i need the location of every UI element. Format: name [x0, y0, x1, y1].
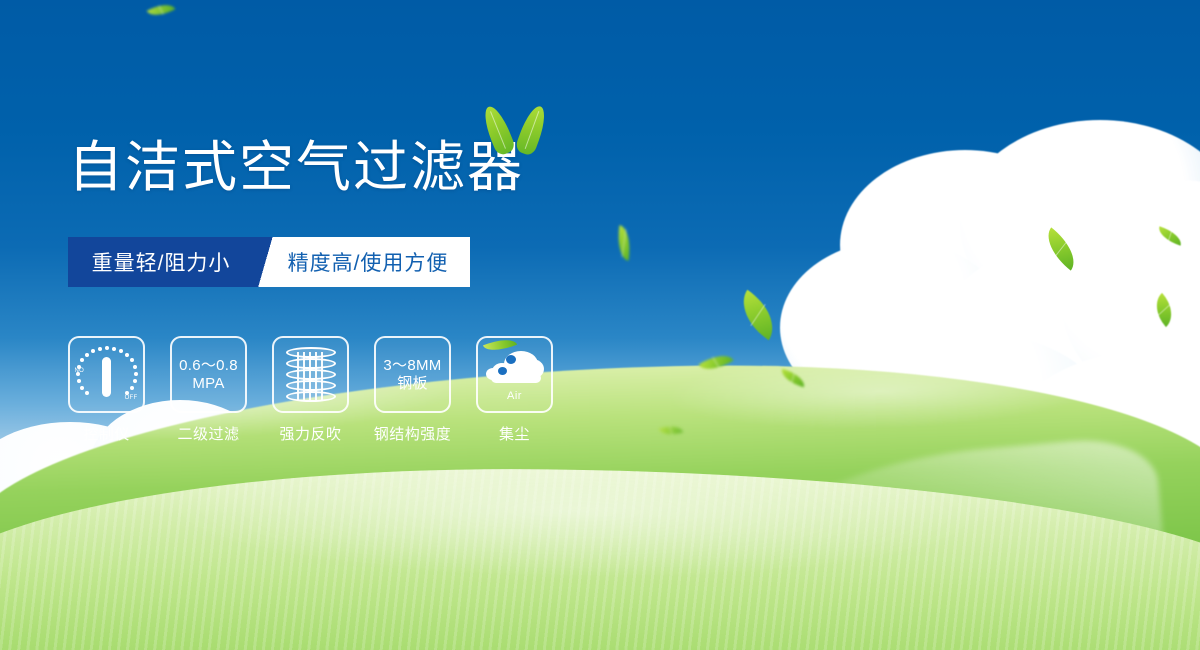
floating-leaf-icon [1147, 293, 1181, 327]
air-label: Air [507, 390, 522, 402]
steel-material: 钢板 [383, 375, 441, 392]
feature-list: NO OFF 控制仪 0.6～0.8 MPA 二级过滤 [68, 336, 553, 444]
feature-label: 控制仪 [83, 423, 130, 444]
feature-label: 钢结构强度 [374, 423, 452, 444]
feature-item-controller[interactable]: NO OFF 控制仪 [68, 336, 145, 444]
sprout-leaves-icon [474, 105, 564, 161]
page-title: 自洁式空气过滤器 [68, 140, 524, 195]
floating-leaf-icon [147, 0, 176, 21]
subtitle-bar: 重量轻/阻力小 精度高/使用方便 [68, 237, 470, 287]
feature-item-two-stage-filtration[interactable]: 0.6～0.8 MPA 二级过滤 [170, 336, 247, 444]
floating-leaf-icon [615, 225, 634, 261]
feature-item-dust-collection[interactable]: Air 集尘 [476, 336, 553, 444]
steel-thickness: 3～8MM [383, 357, 441, 374]
feature-icon-box [272, 336, 349, 413]
feature-label: 集尘 [499, 423, 530, 444]
feature-label: 二级过滤 [177, 423, 239, 444]
pressure-range: 0.6～0.8 [179, 357, 238, 374]
subtitle-right: 精度高/使用方便 [280, 237, 470, 287]
feature-icon-box: NO OFF [68, 336, 145, 413]
feature-icon-box: 0.6～0.8 MPA [170, 336, 247, 413]
subtitle-divider [254, 237, 280, 287]
steel-plate-text-icon: 3～8MM 钢板 [383, 357, 441, 392]
gauge-label-no: NO [75, 368, 85, 374]
feature-item-reverse-blowing[interactable]: 强力反吹 [272, 336, 349, 444]
subtitle-left: 重量轻/阻力小 [68, 237, 254, 287]
hero-banner: 自洁式空气过滤器 重量轻/阻力小 精度高/使用方便 [0, 0, 1200, 650]
pressure-text-icon: 0.6～0.8 MPA [179, 357, 238, 392]
feature-item-steel-strength[interactable]: 3～8MM 钢板 钢结构强度 [374, 336, 451, 444]
feature-icon-box: Air [476, 336, 553, 413]
floating-leaf-icon [1038, 227, 1085, 270]
feature-icon-box: 3～8MM 钢板 [374, 336, 451, 413]
filter-cartridge-icon [286, 347, 336, 403]
gauge-label-off: OFF [125, 395, 138, 401]
cloud-air-icon [486, 347, 544, 389]
title-block: 自洁式空气过滤器 [68, 140, 524, 195]
floating-leaf-icon [731, 290, 786, 341]
feature-label: 强力反吹 [279, 423, 341, 444]
pressure-unit: MPA [179, 375, 238, 392]
floating-leaf-icon [1156, 226, 1184, 245]
gauge-dial-icon: NO OFF [76, 344, 138, 406]
